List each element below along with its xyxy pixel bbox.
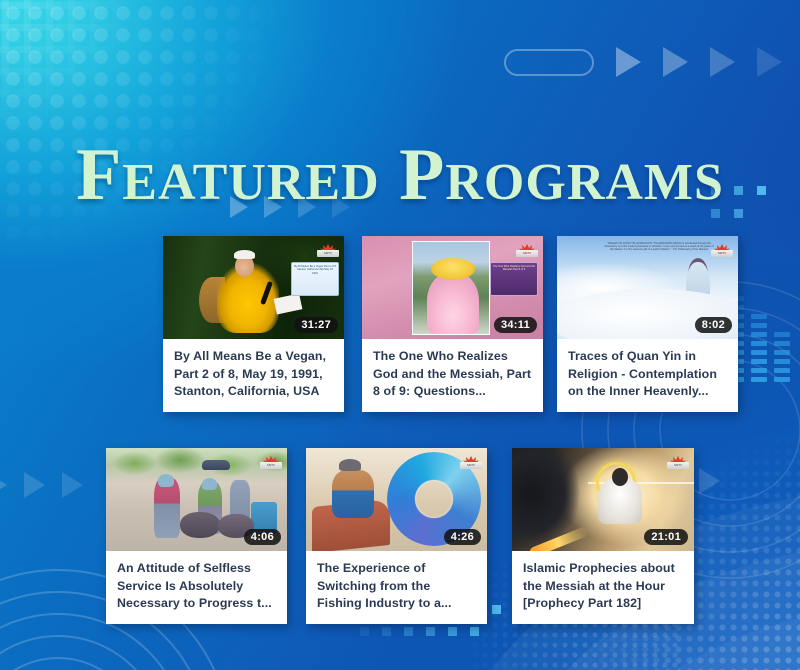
program-title[interactable]: The One Who Realizes God and the Messiah… xyxy=(362,339,543,412)
thumbnail-overlay-card: The One Who Realizes God and the Messiah… xyxy=(490,262,538,296)
program-title[interactable]: An Attitude of Selfless Service Is Absol… xyxy=(106,551,287,624)
duration-badge: 4:06 xyxy=(244,529,281,545)
program-thumbnail[interactable]: SMTV The One Who Realizes God and the Me… xyxy=(362,236,543,339)
logo-plate: SMTV xyxy=(317,250,339,257)
program-title[interactable]: The Experience of Switching from the Fis… xyxy=(306,551,487,624)
logo-plate: SMTV xyxy=(260,462,282,469)
duration-badge: 4:26 xyxy=(444,529,481,545)
play-triangle-icon xyxy=(710,47,735,77)
play-triangle-icon xyxy=(24,472,45,498)
pill-outline-shape xyxy=(504,49,594,76)
play-triangle-icon xyxy=(757,47,782,77)
logo-plate: SMTV xyxy=(667,462,689,469)
thumbnail-caption-text: TRACES OF QUAN YIN IN RELIGION "The ENDU… xyxy=(604,242,714,280)
program-card[interactable]: SMTV The One Who Realizes God and the Me… xyxy=(362,236,543,412)
duration-badge: 34:11 xyxy=(494,317,537,333)
program-card[interactable]: SMTV 21:01 Islamic Prophecies about the … xyxy=(512,448,694,624)
duration-badge: 21:01 xyxy=(644,529,688,545)
program-card[interactable]: SMTV 4:06 An Attitude of Selfless Servic… xyxy=(106,448,287,624)
play-triangle-icon xyxy=(663,47,688,77)
channel-logo-icon: SMTV xyxy=(460,452,482,469)
program-title[interactable]: Traces of Quan Yin in Religion - Contemp… xyxy=(557,339,738,412)
channel-logo-icon: SMTV xyxy=(260,452,282,469)
logo-plate: SMTV xyxy=(460,462,482,469)
channel-logo-icon: SMTV xyxy=(317,240,339,257)
thumbnail-overlay-card: By All Means Be a Vegan Part 2 of 8 Stan… xyxy=(291,262,339,296)
program-thumbnail[interactable]: SMTV By All Means Be a Vegan Part 2 of 8… xyxy=(163,236,344,339)
duration-badge: 8:02 xyxy=(695,317,732,333)
decor-right-triangle xyxy=(699,468,720,494)
logo-plate: SMTV xyxy=(516,250,538,257)
program-card[interactable]: SMTV 4:26 The Experience of Switching fr… xyxy=(306,448,487,624)
program-thumbnail[interactable]: TRACES OF QUAN YIN IN RELIGION "The ENDU… xyxy=(557,236,738,339)
play-triangle-icon xyxy=(616,47,641,77)
decor-top-right-controls xyxy=(504,47,782,77)
program-thumbnail[interactable]: SMTV 4:06 xyxy=(106,448,287,551)
play-triangle-icon xyxy=(0,472,7,498)
play-triangle-icon xyxy=(62,472,83,498)
channel-logo-icon: SMTV xyxy=(667,452,689,469)
page-title: Featured Programs xyxy=(0,138,800,212)
program-title[interactable]: Islamic Prophecies about the Messiah at … xyxy=(512,551,694,624)
program-card[interactable]: TRACES OF QUAN YIN IN RELIGION "The ENDU… xyxy=(557,236,738,412)
program-thumbnail[interactable]: SMTV 4:26 xyxy=(306,448,487,551)
channel-logo-icon: SMTV xyxy=(711,240,733,257)
logo-plate: SMTV xyxy=(711,250,733,257)
program-title[interactable]: By All Means Be a Vegan, Part 2 of 8, Ma… xyxy=(163,339,344,412)
featured-programs-banner: Featured Programs SMTV By All Means Be a… xyxy=(0,0,800,670)
program-thumbnail[interactable]: SMTV 21:01 xyxy=(512,448,694,551)
play-triangle-icon xyxy=(699,468,720,494)
program-card[interactable]: SMTV By All Means Be a Vegan Part 2 of 8… xyxy=(163,236,344,412)
duration-badge: 31:27 xyxy=(294,317,338,333)
decor-left-triangles xyxy=(0,472,83,498)
channel-logo-icon: SMTV xyxy=(516,240,538,257)
